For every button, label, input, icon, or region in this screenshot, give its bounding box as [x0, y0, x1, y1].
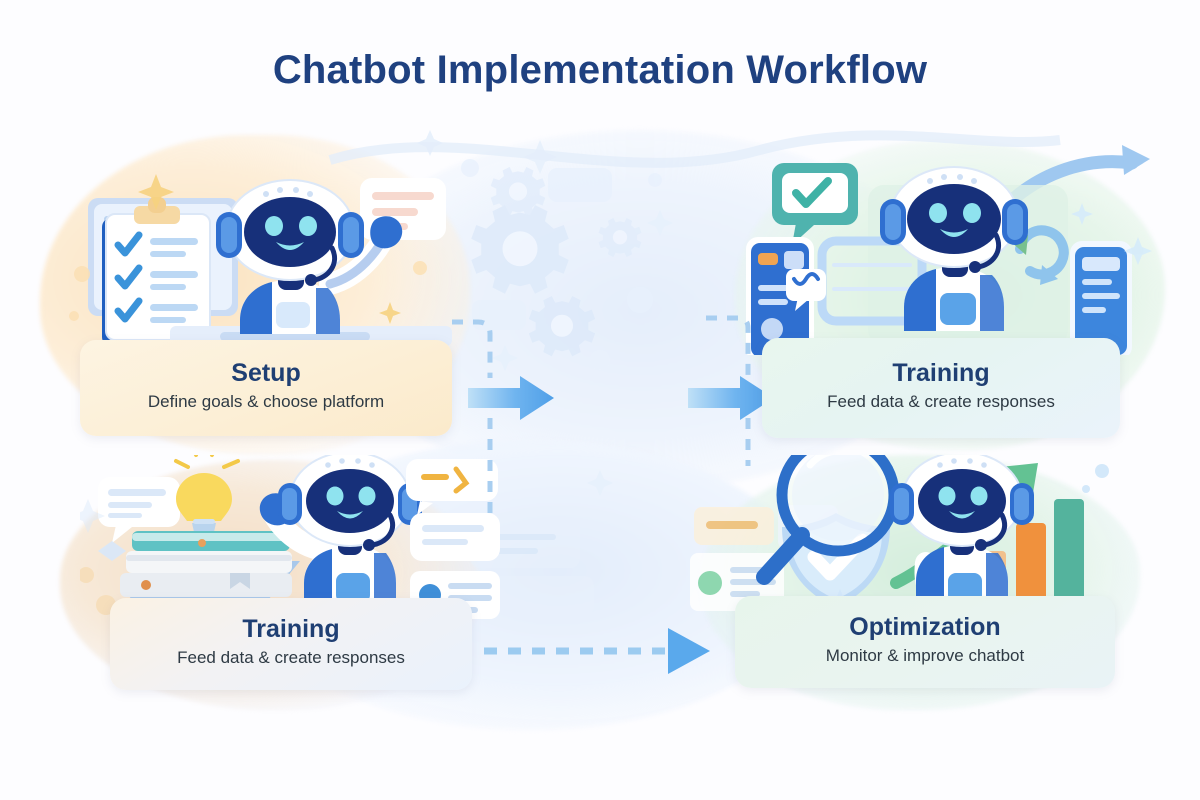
books-stack-icon — [120, 531, 300, 605]
page-title: Chatbot Implementation Workflow — [0, 48, 1200, 93]
step-subtitle: Feed data & create responses — [177, 648, 405, 668]
step-card-training-top[interactable]: Training Feed data & create responses — [762, 338, 1120, 438]
step-title: Training — [892, 359, 989, 388]
lightbulb-icon — [176, 455, 238, 532]
check-bubble-icon — [772, 163, 858, 245]
step-card-setup[interactable]: Setup Define goals & choose platform — [80, 340, 452, 436]
step-title: Training — [242, 615, 339, 644]
workflow-infographic: Chatbot Implementation Workflow Setup De… — [0, 0, 1200, 800]
step-subtitle: Feed data & create responses — [827, 392, 1055, 412]
chat-bubble-icon — [410, 513, 500, 561]
illustration-setup — [60, 150, 460, 360]
step-subtitle: Define goals & choose platform — [148, 392, 384, 412]
illustration-training-top — [740, 145, 1160, 355]
step-subtitle: Monitor & improve chatbot — [826, 646, 1024, 666]
step-title: Optimization — [849, 613, 1000, 642]
clipboard-checklist-icon — [102, 197, 210, 346]
robot-mascot — [890, 455, 1034, 615]
step-card-training-bottom[interactable]: Training Feed data & create responses — [110, 598, 472, 690]
chat-bubble-icon — [406, 459, 498, 515]
step-title: Setup — [231, 359, 300, 388]
step-card-optimization[interactable]: Optimization Monitor & improve chatbot — [735, 596, 1115, 688]
